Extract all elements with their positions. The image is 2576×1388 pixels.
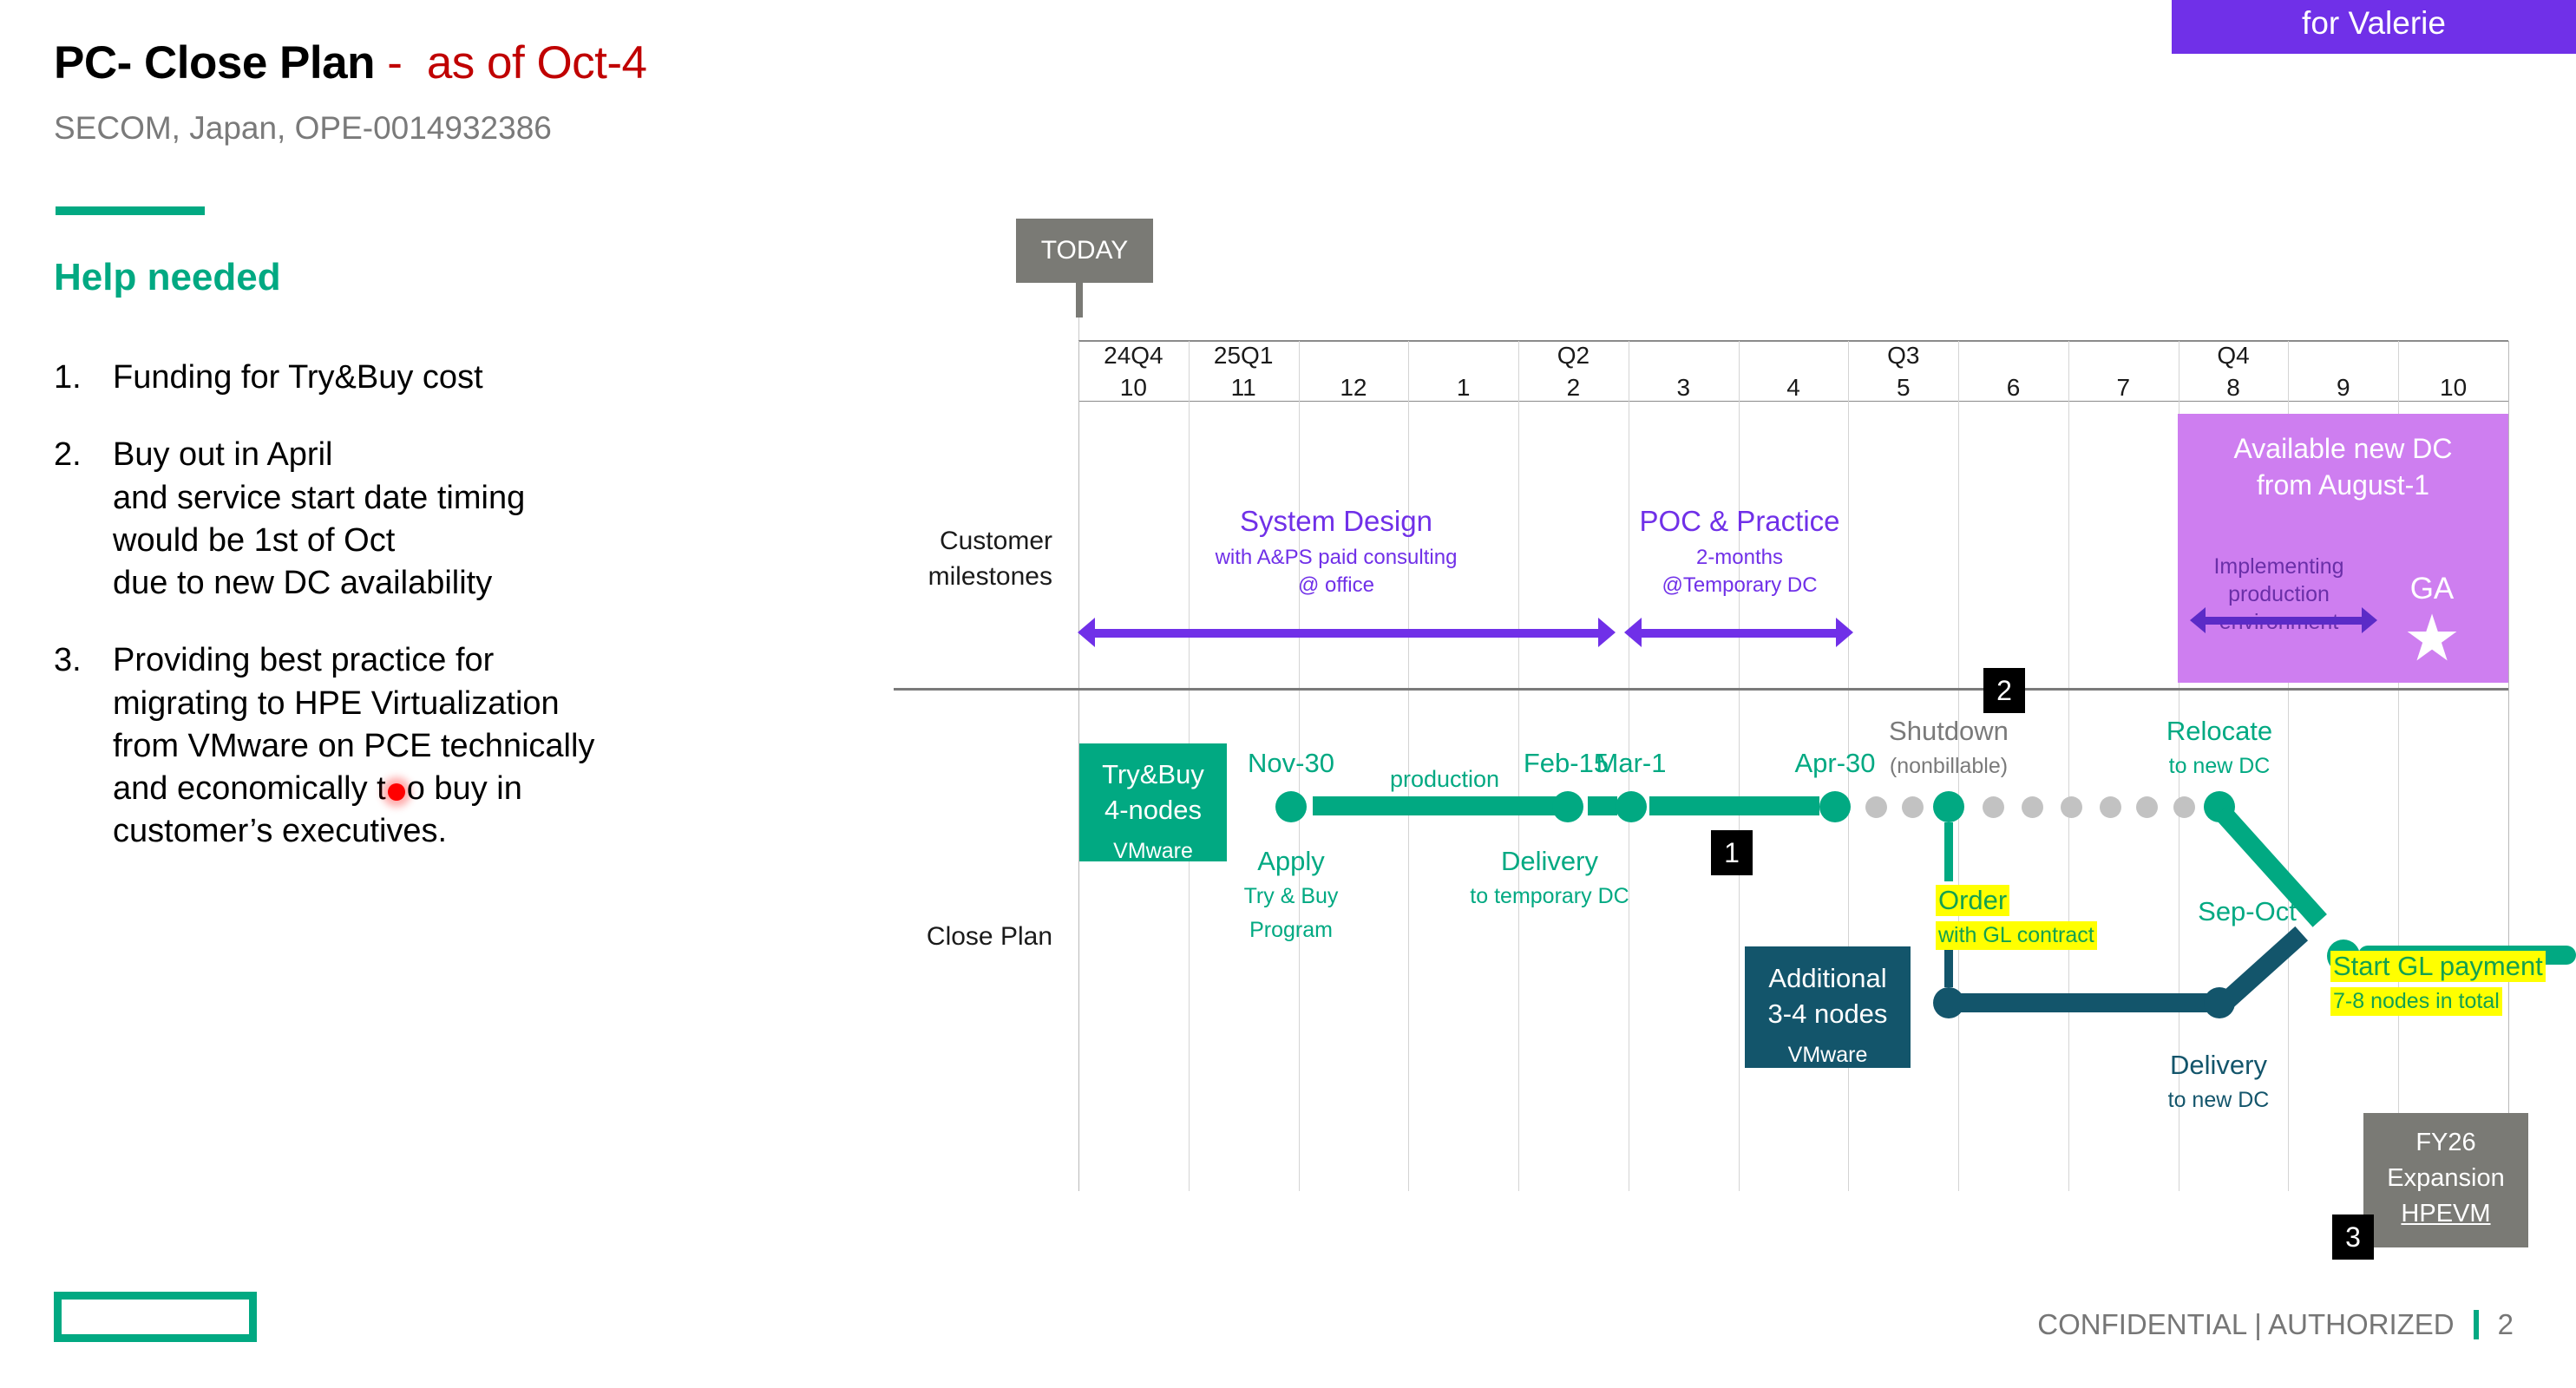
hpe-logo — [54, 1292, 257, 1342]
row-label-line: Customer — [888, 524, 1052, 560]
row-label-line: milestones — [888, 560, 1052, 595]
milestone-label-nov30: Nov-30 — [1213, 748, 1369, 779]
dc-implementation-arrow — [2190, 607, 2377, 633]
list-item-line: Funding for Try&Buy cost — [113, 360, 921, 395]
phase-title: System Design — [1189, 505, 1484, 538]
row-label-close-plan: Close Plan — [888, 922, 1052, 952]
month-label: 10 — [2398, 373, 2508, 403]
page-title-asof: as of Oct-4 — [427, 37, 647, 88]
month-label: 11 — [1189, 373, 1299, 403]
gl-payment-row: Start GL payment — [2330, 951, 2576, 982]
ga-label: GA — [2384, 572, 2480, 606]
milestone-title: Delivery — [2127, 1050, 2310, 1081]
list-item-number: 1. — [54, 360, 113, 403]
trybuy-4nodes-box: Try&Buy 4-nodes VMware — [1079, 743, 1227, 861]
timeline-segment-green — [1313, 796, 1570, 815]
star-icon: ★ — [2402, 612, 2462, 665]
month-label: 12 — [1299, 373, 1409, 403]
phase-sub: @Temporary DC — [1592, 572, 1887, 599]
arrow-head-right — [1598, 618, 1616, 647]
arrow-head-right — [2362, 607, 2377, 633]
phase-sub: 2-months — [1592, 544, 1887, 572]
page-title-main: PC- Close Plan — [54, 37, 375, 88]
milestone-date: Nov-30 — [1213, 748, 1369, 779]
milestone-label-apply: Apply Try & Buy Program — [1213, 846, 1369, 944]
timeline-gray-dot — [2022, 796, 2043, 818]
order-highlight: Order — [1936, 885, 2170, 916]
timeline-segment-navy — [1959, 993, 2209, 1012]
month-label: 9 — [2288, 373, 2398, 403]
footer: CONFIDENTIAL | AUTHORIZED2 — [2037, 1308, 2514, 1341]
today-marker-flag: TODAY — [1016, 219, 1153, 283]
list-item-line: Buy out in April — [113, 437, 921, 472]
order-sub-label: with GL contract — [1936, 921, 2097, 950]
milestone-label-shutdown: Shutdown (nonbillable) — [1845, 716, 2053, 781]
timeline-gray-dot — [1983, 796, 2004, 818]
timeline-gray-dot — [2061, 796, 2082, 818]
arrow-shaft — [2201, 617, 2366, 625]
arrow-shaft — [1090, 629, 1603, 638]
list-item-text: Providing best practice for migrating to… — [113, 643, 921, 856]
grid-column-line — [2508, 341, 2509, 1191]
quarter-label: 25Q1 — [1189, 340, 1299, 371]
footer-divider — [2474, 1310, 2479, 1339]
month-label: 10 — [1078, 373, 1189, 403]
milestone-label-delivery-temp-dc: Delivery to temporary DC — [1419, 846, 1680, 911]
phase-title: POC & Practice — [1592, 505, 1887, 538]
milestone-date: Sep-Oct — [2169, 896, 2325, 927]
box-sub: VMware — [1079, 839, 1227, 864]
phase-arrow-system-design — [1078, 618, 1616, 647]
timeline-dot-apr30 — [1819, 791, 1851, 822]
order-label: Order — [1936, 885, 2009, 916]
accent-bar — [56, 206, 205, 215]
section-divider — [894, 688, 2508, 691]
box-line: 4-nodes — [1079, 793, 1227, 828]
milestone-title: Relocate — [2120, 716, 2319, 747]
shutdown-connector — [1944, 822, 1953, 881]
milestone-sub: (nonbillable) — [1845, 752, 2053, 781]
fy26-expansion-box: FY26 Expansion HPEVM — [2363, 1113, 2528, 1247]
phase-sub: @ office — [1189, 572, 1484, 599]
available-new-dc-box: Available new DC from August-1 Implement… — [2178, 414, 2508, 683]
milestone-label-order: Order with GL contract — [1936, 885, 2170, 950]
milestone-date: Mar-1 — [1553, 748, 1709, 779]
timeline-gray-dot — [1902, 796, 1924, 818]
dc-box-title-line: from August-1 — [2178, 468, 2508, 504]
list-item-line: due to new DC availability — [113, 566, 921, 600]
grid-column-line — [1739, 341, 1740, 1191]
gl-payment-highlight-block: Start GL payment 7-8 nodes in total — [2330, 951, 2576, 1016]
gl-nodes-label: 7-8 nodes in total — [2330, 987, 2502, 1016]
today-marker-stem — [1076, 283, 1083, 318]
month-label: 6 — [1958, 373, 2068, 403]
month-label: 4 — [1739, 373, 1849, 403]
cursor-click-indicator-icon — [388, 783, 405, 801]
list-item: 1. Funding for Try&Buy cost — [54, 360, 921, 403]
classification-label: CONFIDENTIAL | AUTHORIZED — [2037, 1308, 2454, 1340]
phase-system-design: System Design with A&PS paid consulting … — [1189, 505, 1484, 599]
quarter-label: Q4 — [2179, 340, 2289, 371]
month-label: 7 — [2068, 373, 2179, 403]
list-item-line: migrating to HPE Virtualization — [113, 686, 921, 721]
list-item-line: customer’s executives. — [113, 814, 921, 848]
timeline-gray-dot — [2100, 796, 2121, 818]
callout-badge-1: 1 — [1711, 830, 1753, 875]
milestone-label-delivery-new-dc: Delivery to new DC — [2127, 1050, 2310, 1115]
list-item-number: 3. — [54, 643, 113, 856]
milestone-sub: Program — [1213, 916, 1369, 945]
milestone-sub: to new DC — [2127, 1086, 2310, 1115]
milestone-sub: to new DC — [2120, 752, 2319, 781]
month-label: 1 — [1408, 373, 1518, 403]
order-connector — [1944, 946, 1953, 987]
milestone-title: Delivery — [1419, 846, 1680, 877]
fy26-link-hpevm[interactable]: HPEVM — [2363, 1196, 2528, 1232]
milestone-sub: Try & Buy — [1213, 882, 1369, 911]
box-line: Additional — [1745, 961, 1911, 997]
grid-column-line — [2068, 341, 2069, 1191]
list-item-line: would be 1st of Oct — [113, 523, 921, 558]
list-item-line-with-cursor: and economically to buy in — [113, 771, 921, 806]
title-block: PC- Close Plan - as of Oct-4 SECOM, Japa… — [54, 36, 647, 147]
list-item-line: from VMware on PCE technically — [113, 729, 921, 763]
dc-box-sub-line: production — [2199, 580, 2359, 608]
page-number: 2 — [2498, 1308, 2514, 1340]
today-marker-tick — [1078, 318, 1079, 342]
timeline-gray-dot — [1865, 796, 1887, 818]
arrow-head-right — [1836, 618, 1853, 647]
fy26-line: FY26 — [2363, 1125, 2528, 1161]
phase-sub: with A&PS paid consulting — [1189, 544, 1484, 572]
list-item-text: Buy out in April and service start date … — [113, 437, 921, 608]
quarter-label: Q2 — [1518, 340, 1629, 371]
order-sub-highlight: with GL contract — [1936, 921, 2170, 950]
quarter-label: Q3 — [1848, 340, 1958, 371]
milestone-title: Shutdown — [1845, 716, 2053, 747]
page-subtitle: SECOM, Japan, OPE-0014932386 — [54, 110, 647, 147]
month-label: 2 — [1518, 373, 1629, 403]
callout-badge-3: 3 — [2332, 1214, 2374, 1260]
dc-box-title: Available new DC from August-1 — [2178, 414, 2508, 503]
milestone-label-sepoct: Sep-Oct — [2169, 896, 2325, 927]
list-item-text: Funding for Try&Buy cost — [113, 360, 921, 403]
timeline-dot-nov30 — [1275, 791, 1307, 822]
timeline-segment-green — [1649, 796, 1819, 815]
month-label: 5 — [1848, 373, 1958, 403]
gl-payment-label: Start GL payment — [2330, 951, 2546, 982]
milestone-label-relocate: Relocate to new DC — [2120, 716, 2319, 781]
valerie-callout-box: as of October-4 for Valerie — [2172, 0, 2576, 54]
milestone-label-mar1: Mar-1 — [1553, 748, 1709, 779]
page-title-dash: - — [387, 37, 402, 88]
help-needed-heading: Help needed — [54, 256, 281, 299]
box-line: 3-4 nodes — [1745, 997, 1911, 1032]
timeline-gray-dot — [2173, 796, 2195, 818]
list-item: 2. Buy out in April and service start da… — [54, 437, 921, 608]
milestone-title: Apply — [1213, 846, 1369, 877]
list-item-number: 2. — [54, 437, 113, 608]
box-sub: VMware — [1745, 1043, 1911, 1068]
timeline-dot-feb15 — [1552, 791, 1583, 822]
box-line: Try&Buy — [1079, 757, 1227, 793]
fy26-line: Expansion — [2363, 1161, 2528, 1196]
dc-box-sub-line: Implementing — [2199, 553, 2359, 580]
list-item-line: and service start date timing — [113, 481, 921, 515]
timeline-gray-dot — [2136, 796, 2158, 818]
milestone-sub: to temporary DC — [1419, 882, 1680, 911]
additional-nodes-box: Additional 3-4 nodes VMware — [1745, 946, 1911, 1068]
phase-arrow-poc-practice — [1624, 618, 1853, 647]
callout-badge-2: 2 — [1983, 668, 2025, 713]
phase-poc-practice: POC & Practice 2-months @Temporary DC — [1592, 505, 1887, 599]
list-item-line: Providing best practice for — [113, 643, 921, 678]
timeline-dot-mar1 — [1616, 791, 1647, 822]
help-needed-list: 1. Funding for Try&Buy cost 2. Buy out i… — [54, 360, 921, 892]
list-item: 3. Providing best practice for migrating… — [54, 643, 921, 856]
dc-box-title-line: Available new DC — [2178, 431, 2508, 468]
valerie-callout-line2: for Valerie — [2172, 3, 2576, 45]
month-label: 8 — [2179, 373, 2289, 403]
timeline-segment-green — [1588, 796, 1617, 815]
timeline-dot-shutdown — [1933, 791, 1964, 822]
arrow-shaft — [1636, 629, 1841, 638]
gl-nodes-row: 7-8 nodes in total — [2330, 987, 2576, 1016]
month-label: 3 — [1629, 373, 1739, 403]
quarter-label: 24Q4 — [1078, 340, 1189, 371]
row-label-customer-milestones: Customer milestones — [888, 524, 1052, 594]
page-title: PC- Close Plan - as of Oct-4 — [54, 36, 647, 89]
